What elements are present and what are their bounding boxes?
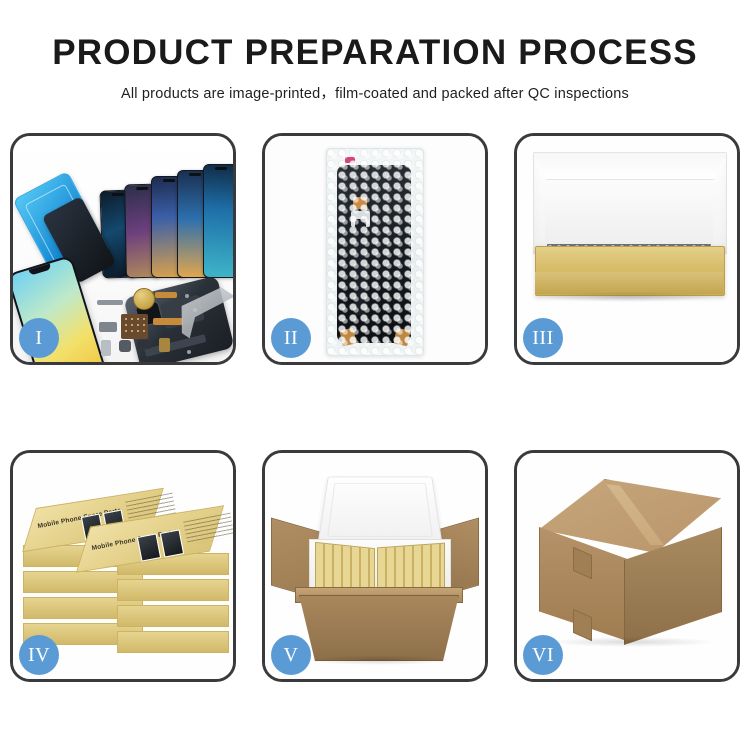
step-badge-4: IV (19, 635, 59, 675)
product-preparation-process-page: PRODUCT PREPARATION PROCESS All products… (0, 0, 750, 750)
box-stack: Mobile Phone Spare Parts Mobile Phone Sp… (21, 471, 229, 667)
flex-cable-icon (153, 318, 183, 325)
box-lid-fold (533, 152, 727, 180)
step-badge-2: II (271, 318, 311, 358)
flex-cable-icon (339, 328, 356, 347)
process-step-1: I (10, 133, 236, 365)
wrapped-screen-part (337, 165, 411, 343)
step-badge-3: III (523, 318, 563, 358)
drop-shadow (305, 655, 453, 665)
carton-body (299, 595, 459, 661)
flex-cable-icon (393, 328, 410, 347)
stacked-box (117, 605, 229, 627)
page-header: PRODUCT PREPARATION PROCESS All products… (0, 0, 750, 103)
earpiece-mesh-icon (97, 300, 123, 305)
process-step-2: II (262, 133, 488, 365)
process-step-5: V (262, 450, 488, 682)
sim-tray-icon (101, 340, 111, 356)
process-step-4: Mobile Phone Spare Parts Mobile Phone Sp… (10, 450, 236, 682)
flex-cable-icon (355, 219, 366, 315)
step-badge-6: VI (523, 635, 563, 675)
page-title: PRODUCT PREPARATION PROCESS (0, 34, 750, 73)
process-step-3: III (514, 133, 740, 365)
step-badge-1: I (19, 318, 59, 358)
qc-sticker-icon (345, 157, 355, 163)
stacked-box (117, 631, 229, 653)
phone-fan-group (99, 158, 233, 278)
speaker-part-icon (133, 288, 155, 310)
battery-connector-icon (159, 338, 170, 352)
page-subtitle: All products are image-printed，film-coat… (0, 82, 750, 103)
drop-shadow (541, 292, 717, 302)
step-badge-5: V (271, 635, 311, 675)
stacked-box (117, 579, 229, 601)
adhesive-tab-icon (353, 197, 367, 209)
process-step-6: VI (514, 450, 740, 682)
connector-icon (137, 340, 151, 349)
kraft-box-front-face (535, 272, 723, 294)
phone-device-icon (203, 164, 233, 278)
camera-module-icon (99, 322, 117, 332)
foam-lid (317, 477, 443, 546)
flex-cable-icon (155, 292, 177, 298)
chip-icon (121, 314, 148, 339)
bubble-bag (326, 148, 424, 356)
box-inner-wall (545, 188, 713, 250)
vibrator-icon (119, 340, 131, 352)
process-step-grid: I II (10, 133, 740, 682)
drop-shadow (547, 637, 717, 647)
